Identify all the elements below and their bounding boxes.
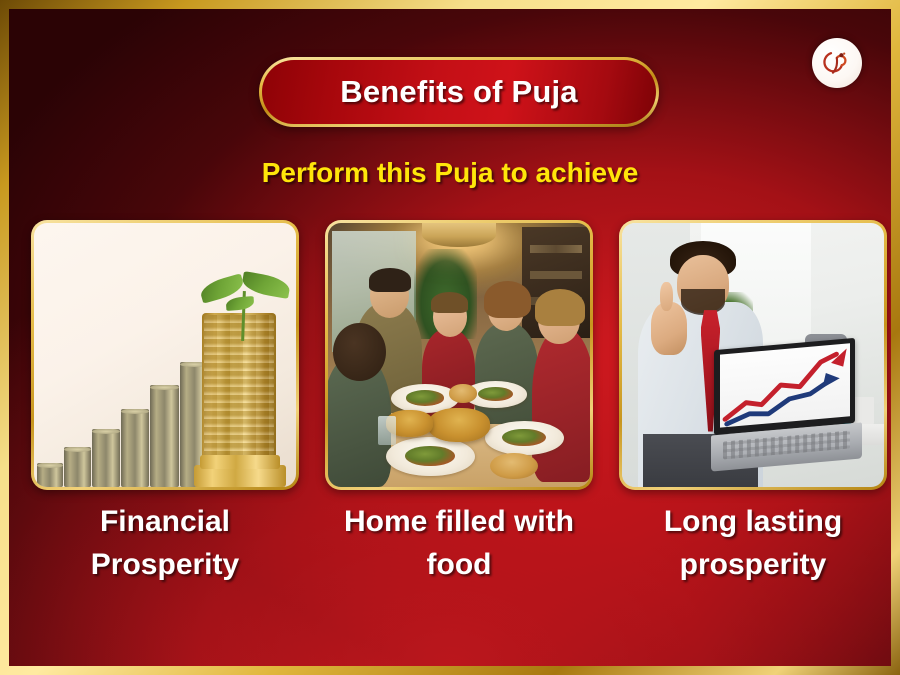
page-title: Benefits of Puja — [340, 74, 577, 110]
benefit-card-financial-prosperity — [31, 220, 299, 490]
title-pill: Benefits of Puja — [259, 57, 659, 127]
benefit-card-long-lasting-prosperity — [619, 220, 887, 490]
caption-financial-prosperity: Financial Prosperity — [31, 501, 299, 586]
family-dinner-photo — [328, 223, 590, 487]
benefit-captions-row: Financial Prosperity Home filled with fo… — [31, 501, 887, 586]
businessman-thumbs-up-photo — [622, 223, 884, 487]
page-subtitle: Perform this Puja to achieve — [9, 157, 891, 189]
caption-home-filled-with-food: Home filled with food — [325, 501, 593, 586]
caption-long-lasting-prosperity: Long lasting prosperity — [619, 501, 887, 586]
poster-root: Benefits of Puja Perform this Puja to ac… — [0, 0, 900, 675]
coins-and-sprout-photo — [34, 223, 296, 487]
poster-background: Benefits of Puja Perform this Puja to ac… — [9, 9, 891, 666]
ganesha-logo-icon — [812, 38, 862, 88]
benefit-card-home-filled-with-food — [325, 220, 593, 490]
benefit-cards-row — [31, 220, 887, 490]
laptop-with-growth-chart — [711, 344, 868, 465]
title-pill-fill: Benefits of Puja — [262, 60, 656, 124]
